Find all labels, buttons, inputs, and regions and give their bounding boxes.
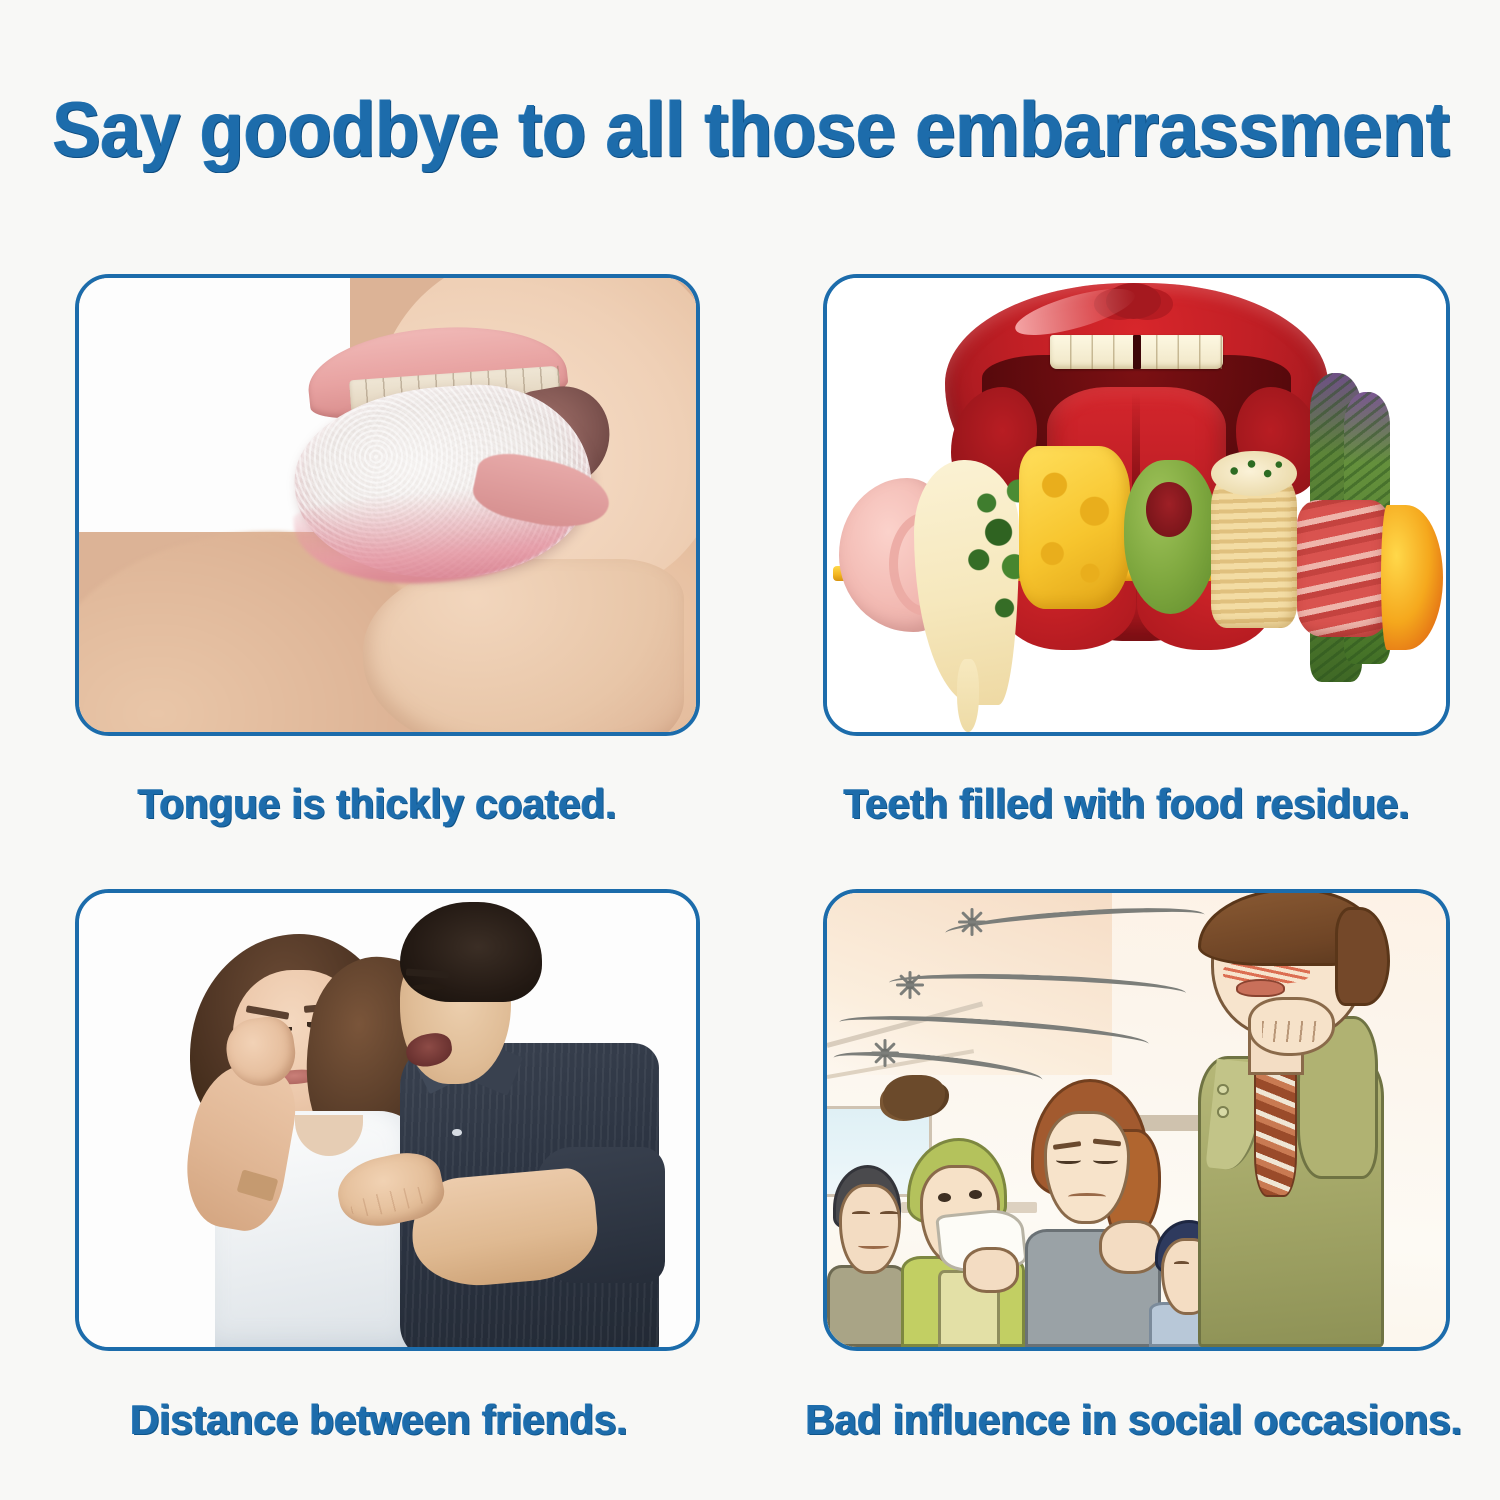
olive-pimento [1146,482,1192,536]
coworker-4-eye-left [1174,1261,1189,1266]
bacon-wrap [1297,500,1390,636]
illustration-mouth-food [827,278,1446,732]
herb-garnish [1223,455,1285,487]
cheese-icon [1019,446,1130,609]
caption-social-occasions: Bad influence in social occasions. [806,1396,1463,1444]
card-food-residue [823,274,1450,736]
page-title: Say goodbye to all those embarrassment [53,84,1448,175]
teeth-gap [1133,335,1142,369]
infographic-page: Say goodbye to all those embarrassment T… [0,0,1500,1500]
stink-sparkle-icon-1 [957,907,987,937]
coworker-3-hand [1099,1220,1161,1274]
photo-coated-tongue [79,278,696,732]
caption-distance-friends: Distance between friends. [130,1396,627,1444]
coworker-3-eye-left [1056,1156,1081,1163]
photo-couple [79,893,696,1347]
man-striped-tie [1254,1061,1297,1197]
coworker-1-mouth [858,1243,889,1249]
card-tongue-coated [75,274,700,736]
caption-tongue-coated: Tongue is thickly coated. [138,780,617,828]
coworker-3-mouth [1068,1193,1105,1200]
card-social-occasions [823,889,1450,1351]
coworker-1-body [827,1265,907,1347]
coworker-1-eye-left [852,1211,871,1216]
card-distance-friends [75,889,700,1351]
caption-food-residue: Teeth filled with food residue. [844,780,1410,828]
coworker-2-eye-left [938,1193,950,1202]
man-hand-covering-mouth [1248,997,1335,1056]
man-mouth [1236,979,1286,997]
coworker-2-hand [963,1247,1019,1292]
coworker-1-eye-right [880,1211,899,1216]
jawline-shape [363,559,684,736]
stink-sparkle-icon-3 [870,1038,900,1068]
sauce-drip [957,659,979,732]
man-shirt-button-1 [452,1129,461,1136]
cartoon-office-scene [827,893,1446,1347]
coworker-3-eye-right [1093,1156,1118,1163]
stink-sparkle-icon-2 [895,970,925,1000]
